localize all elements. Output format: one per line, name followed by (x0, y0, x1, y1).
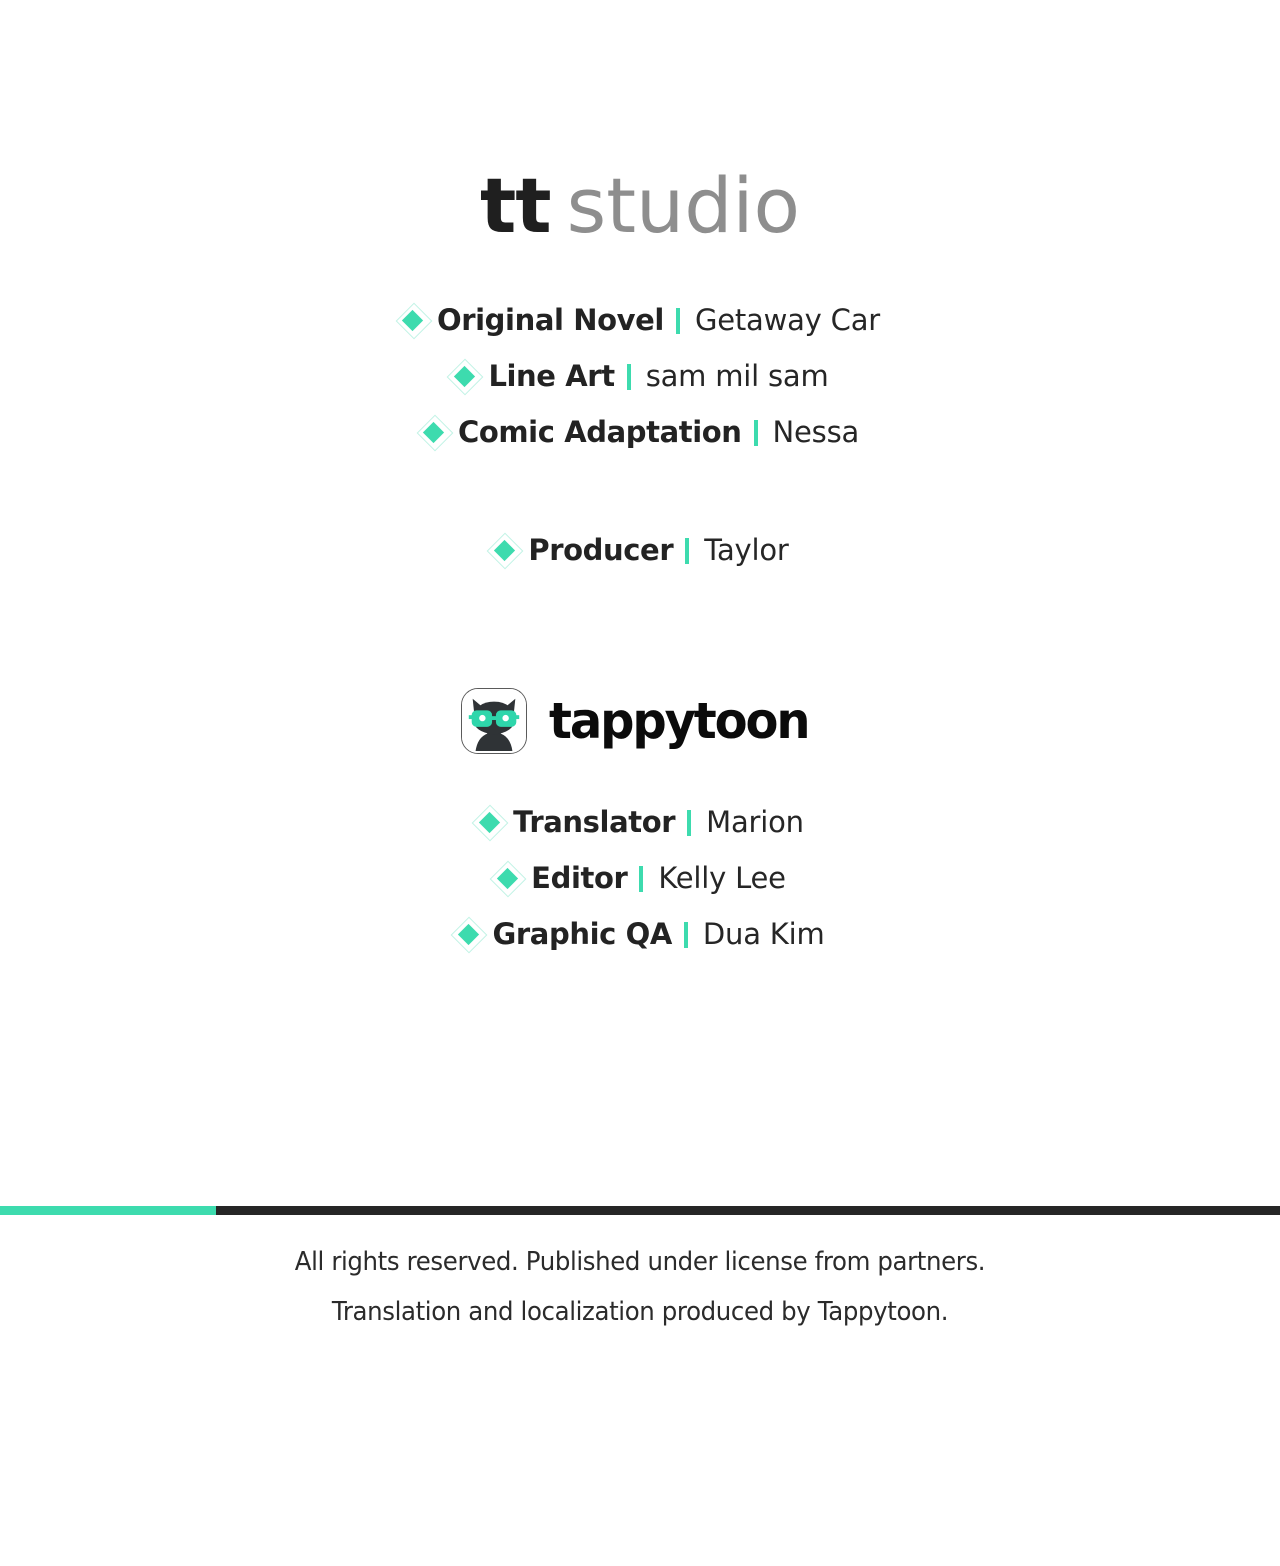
credit-value-label: Getaway Car (695, 303, 880, 337)
diamond-icon (491, 537, 517, 563)
credit-separator-bar (684, 922, 688, 948)
credit-role-label: Graphic QA (492, 917, 671, 951)
tt-studio-logo: ttstudio (0, 168, 1280, 244)
credit-row-producer: Producer Taylor (0, 522, 1280, 578)
credit-row-line-art: Line Art sam mil sam (0, 348, 1280, 404)
credit-separator-bar (639, 866, 643, 892)
credits-bottom-block: Translator Marion Editor Kelly Lee Graph… (0, 794, 1280, 962)
diamond-icon (455, 921, 481, 947)
credit-row-original-novel: Original Novel Getaway Car (0, 292, 1280, 348)
footer-legal-line-2: Translation and localization produced by… (38, 1288, 1241, 1338)
credit-role-label: Editor (531, 861, 627, 895)
credit-row-translator: Translator Marion (0, 794, 1280, 850)
layout-spacer (0, 962, 1280, 1206)
credit-role-label: Translator (513, 805, 675, 839)
tt-studio-logo-bold: tt (480, 161, 551, 250)
credit-row-graphic-qa: Graphic QA Dua Kim (0, 906, 1280, 962)
credit-value-label: Dua Kim (703, 917, 825, 951)
credit-separator-bar (754, 420, 758, 446)
footer-legal-line-1: All rights reserved. Published under lic… (38, 1238, 1241, 1288)
credit-separator-bar (627, 364, 631, 390)
credit-row-editor: Editor Kelly Lee (0, 850, 1280, 906)
credit-separator-bar (685, 538, 689, 564)
credit-role-label: Comic Adaptation (458, 415, 742, 449)
credit-separator-bar (676, 308, 680, 334)
footer-divider-mint-segment (0, 1206, 216, 1215)
tappytoon-cat-icon (461, 688, 527, 754)
diamond-icon (494, 865, 520, 891)
footer-divider-dark-segment (216, 1206, 1280, 1215)
diamond-icon (451, 363, 477, 389)
credit-value-label: Taylor (704, 533, 788, 567)
tt-studio-logo-light: studio (567, 161, 800, 250)
tappytoon-wordmark: tappytoon (549, 696, 808, 746)
credit-role-label: Line Art (488, 359, 614, 393)
credit-row-comic-adaptation: Comic Adaptation Nessa (0, 404, 1280, 460)
credit-value-label: sam mil sam (646, 359, 829, 393)
tappytoon-brand: tappytoon (0, 688, 1280, 754)
credit-value-label: Kelly Lee (658, 861, 785, 895)
footer-divider (0, 1206, 1280, 1215)
diamond-icon (476, 809, 502, 835)
diamond-icon (400, 307, 426, 333)
credit-value-label: Nessa (773, 415, 860, 449)
footer-legal-text: All rights reserved. Published under lic… (0, 1215, 1280, 1566)
credit-role-label: Producer (528, 533, 673, 567)
diamond-icon (421, 419, 447, 445)
credit-role-label: Original Novel (437, 303, 664, 337)
credits-page: ttstudio Original Novel Getaway Car Line… (0, 0, 1280, 1566)
credits-top-block: Original Novel Getaway Car Line Art sam … (0, 292, 1280, 578)
credit-separator-bar (687, 810, 691, 836)
credit-value-label: Marion (706, 805, 804, 839)
